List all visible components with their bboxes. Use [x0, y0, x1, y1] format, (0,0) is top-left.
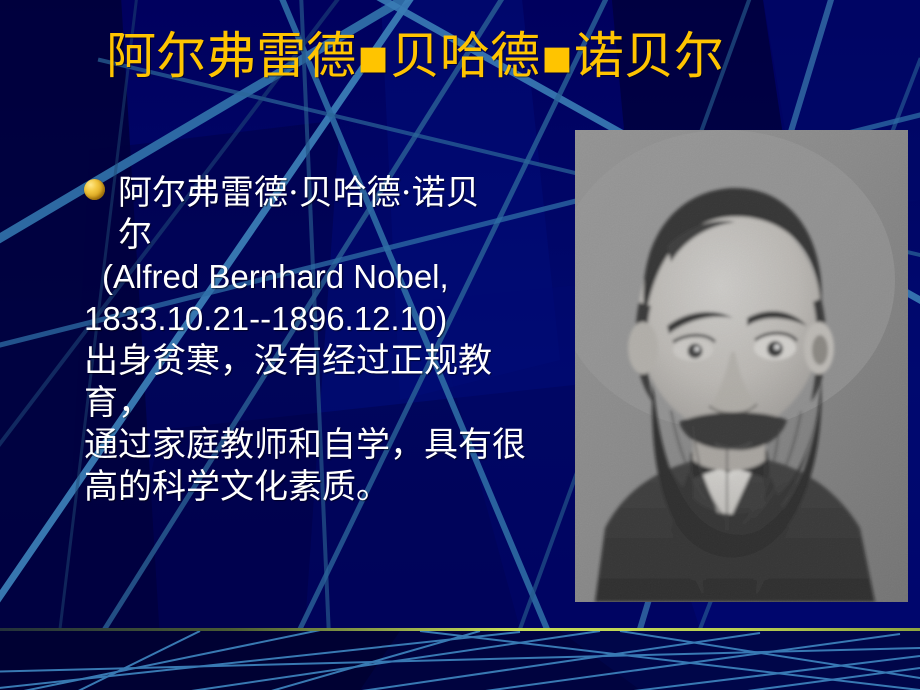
- body-line-5: 出身贫寒，没有经过正规教育，: [84, 340, 554, 424]
- bullet-list-item: 阿尔弗雷德·贝哈德·诺贝: [84, 172, 554, 214]
- slide-body-content: 阿尔弗雷德·贝哈德·诺贝 尔 (Alfred Bernhard Nobel, 1…: [84, 172, 554, 508]
- slide-title: 阿尔弗雷德▪贝哈德▪诺贝尔: [0, 26, 830, 86]
- presentation-slide: 阿尔弗雷德▪贝哈德▪诺贝尔 阿尔弗雷德·贝哈德·诺贝 尔 (Alfred Ber…: [0, 0, 920, 690]
- body-line-7: 高的科学文化素质。: [84, 466, 554, 508]
- body-line-3: (Alfred Bernhard Nobel,: [84, 256, 554, 298]
- body-line-2: 尔: [118, 214, 554, 256]
- portrait-illustration: [575, 130, 908, 602]
- body-line-4: 1833.10.21--1896.12.10): [84, 298, 554, 340]
- nobel-portrait-image: [575, 130, 908, 602]
- body-line-1: 阿尔弗雷德·贝哈德·诺贝: [118, 172, 554, 214]
- gold-sphere-bullet-icon: [84, 179, 105, 200]
- body-line-6: 通过家庭教师和自学，具有很: [84, 424, 554, 466]
